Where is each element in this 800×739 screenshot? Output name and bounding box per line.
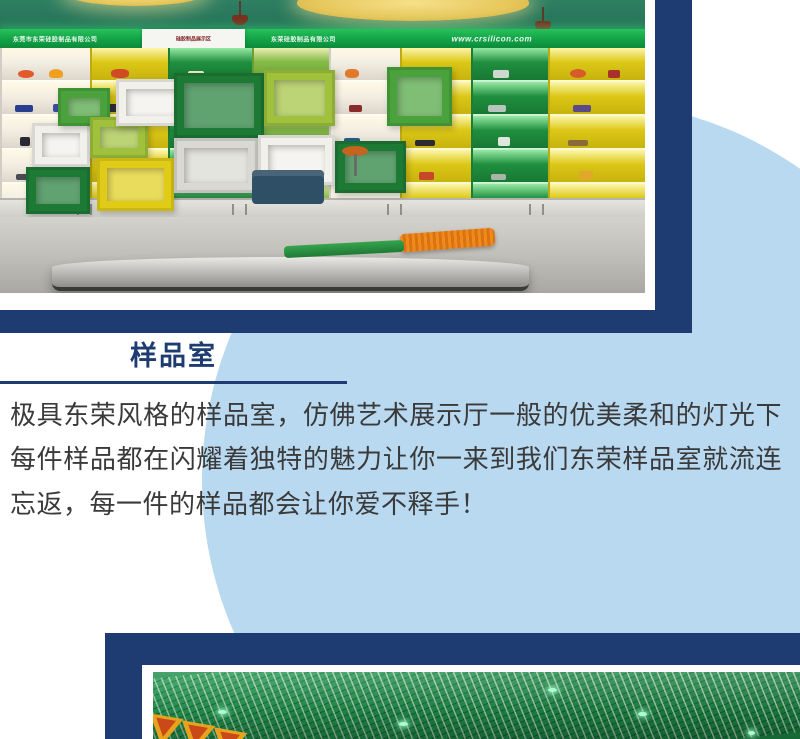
display-cube [387, 67, 452, 126]
stool [342, 146, 368, 176]
green-product-mat [284, 240, 404, 258]
banner-text-website: www.crsilicon.com [452, 34, 533, 43]
caption-block: 样品室 极具东荣风格的样品室，仿佛艺术展示厅一般的优美柔和的灯光下每件样品都在闪… [0, 333, 800, 528]
navy-band-vertical [655, 0, 692, 333]
shelf-column [548, 48, 645, 218]
display-cube [174, 138, 258, 194]
mesh-shading [153, 672, 800, 739]
hero-photo-frame: 东莞市东荣硅胶制品有限公司 东荣硅胶制品有限公司 www.crsilicon.c… [0, 0, 655, 310]
display-cube [264, 70, 335, 126]
floor [0, 217, 645, 293]
banner-plate: 硅胶制品展示区 [142, 29, 245, 48]
poster-page: 东莞市东荣硅胶制品有限公司 东荣硅胶制品有限公司 www.crsilicon.c… [0, 0, 800, 739]
light-reflection [399, 722, 408, 726]
signage-band: 东莞市东荣硅胶制品有限公司 东荣硅胶制品有限公司 www.crsilicon.c… [0, 29, 645, 48]
orange-product-display [399, 228, 495, 253]
banner-text-company-mid: 东荣硅胶制品有限公司 [271, 34, 336, 43]
curved-counter [52, 257, 529, 291]
shelf-column [471, 48, 552, 218]
display-cube [174, 73, 264, 137]
section-title: 样品室 [0, 333, 347, 374]
title-underline [0, 381, 347, 384]
banner-text-company-left: 东莞市东荣硅胶制品有限公司 [13, 34, 98, 43]
factory-ceiling-photo [153, 672, 800, 739]
display-cube [97, 158, 174, 211]
display-cube [26, 167, 91, 214]
light-reflection [218, 710, 227, 714]
navy-band-horizontal [0, 310, 692, 333]
banner-plate-text: 硅胶制品展示区 [176, 35, 211, 42]
section-body-text: 极具东荣风格的样品室，仿佛艺术展示厅一般的优美柔和的灯光下每件样品都在闪耀着独特… [0, 394, 800, 528]
display-cube [32, 123, 90, 167]
showroom-photo: 东莞市东荣硅胶制品有限公司 东荣硅胶制品有限公司 www.crsilicon.c… [0, 0, 645, 293]
light-reflection [548, 688, 557, 692]
sofa [252, 170, 324, 204]
